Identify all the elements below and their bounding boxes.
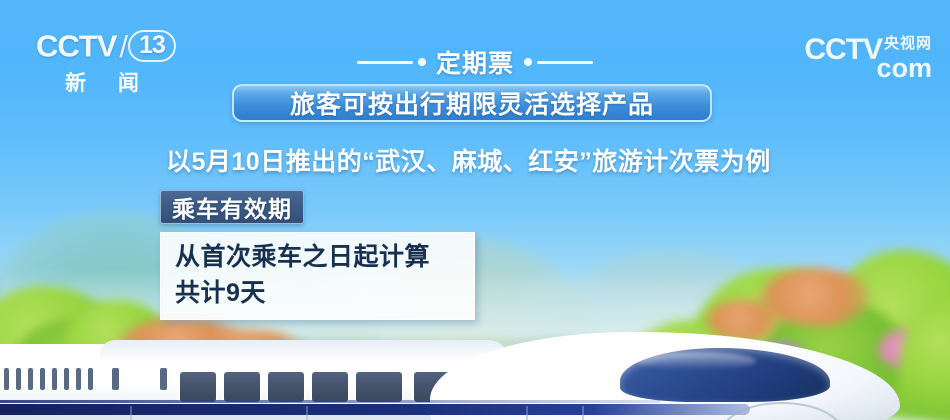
train-window-4: [310, 370, 350, 404]
kicker-title: 定期票: [436, 44, 514, 80]
headline-text: 旅客可按出行期限灵活选择产品: [290, 85, 654, 121]
train-windshield-glint: [636, 352, 756, 370]
validity-detail-panel: 从首次乘车之日起计算 共计9天: [160, 232, 475, 320]
kicker-rule-right: [524, 58, 593, 66]
train-skirt-line-1: [130, 406, 132, 420]
kicker-line-left: [357, 61, 413, 64]
train-tick-9: [88, 368, 93, 390]
train-skirt-line-4: [582, 406, 584, 420]
validity-detail-line-1: 从首次乘车之日起计算: [175, 240, 460, 276]
train-tick-7: [64, 368, 69, 390]
headline-banner: 旅客可按出行期限灵活选择产品: [232, 84, 712, 122]
example-subline: 以5月10日推出的“武汉、麻城、红安”旅游计次票为例: [166, 142, 771, 178]
high-speed-train-illustration: [0, 318, 950, 420]
train-window-2: [222, 370, 262, 404]
validity-period-tag-label: 乘车有效期: [172, 190, 292, 224]
train-marker-mid: [160, 368, 167, 390]
train-car-roof: [100, 340, 510, 362]
kicker-dot-right: [524, 58, 532, 66]
train-window-3: [266, 370, 306, 404]
train-marker-left: [112, 368, 119, 390]
kicker-rule-left: [357, 58, 426, 66]
train-tick-2: [4, 368, 9, 390]
train-tick-8: [76, 368, 81, 390]
validity-detail-line-2: 共计9天: [175, 276, 460, 312]
train-tick-6: [52, 368, 57, 390]
train-window-1: [178, 370, 218, 404]
kicker-row: 定期票: [0, 44, 950, 80]
train-skirt-line-3: [526, 406, 528, 420]
kicker-dot-left: [418, 58, 426, 66]
train-window-5: [354, 370, 404, 404]
train-tick-5: [40, 368, 45, 390]
kicker-line-right: [537, 61, 593, 64]
train-stripe: [0, 404, 750, 415]
validity-period-tag: 乘车有效期: [160, 190, 304, 224]
train-tick-3: [16, 368, 21, 390]
broadcast-graphic: CCTV/13 新 闻 CCTV 央视网 com 定期票 旅客可按出行期限灵活选…: [0, 0, 950, 420]
train-stripe-thin: [0, 400, 660, 403]
train-skirt-line-2: [306, 406, 308, 420]
train-tick-4: [28, 368, 33, 390]
